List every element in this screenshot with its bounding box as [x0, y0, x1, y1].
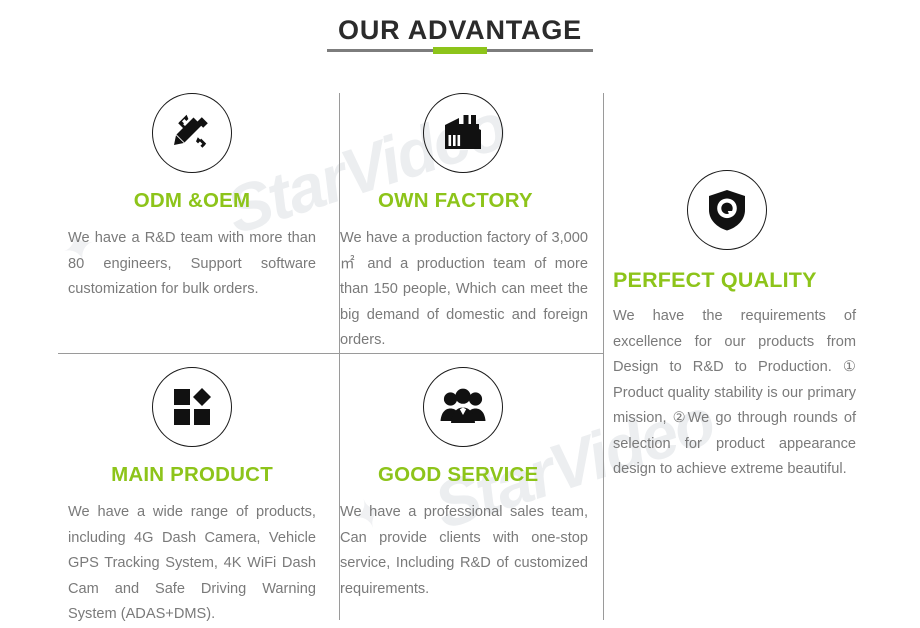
card-description: We have a wide range of products, includ…: [68, 500, 316, 628]
card-title: GOOD SERVICE: [340, 463, 588, 487]
pencil-design-icon: [152, 93, 232, 173]
advantage-card-perfect-quality[interactable]: PERFECT QUALITY We have the requirements…: [613, 170, 856, 483]
page-title: OUR ADVANTAGE: [0, 0, 920, 47]
card-title: PERFECT QUALITY: [613, 268, 856, 292]
advantage-card-main-product[interactable]: MAIN PRODUCT We have a wide range of pro…: [68, 367, 316, 628]
advantage-card-own-factory[interactable]: OWN FACTORY We have a production factory…: [340, 93, 588, 354]
card-description: We have a professional sales team, Can p…: [340, 500, 588, 602]
title-underline-accent: [433, 47, 487, 54]
advantage-card-odm-oem[interactable]: ODM &OEM We have a R&D team with more th…: [68, 93, 316, 303]
product-grid-icon: [152, 367, 232, 447]
card-description: We have a R&D team with more than 80 eng…: [68, 226, 316, 303]
vertical-divider-right: [603, 93, 604, 620]
card-title: ODM &OEM: [68, 189, 316, 213]
factory-icon: [423, 93, 503, 173]
advantage-card-good-service[interactable]: GOOD SERVICE We have a professional sale…: [340, 367, 588, 602]
shield-quality-icon: [687, 170, 767, 250]
card-title: MAIN PRODUCT: [68, 463, 316, 487]
page-header: OUR ADVANTAGE: [0, 0, 920, 47]
card-description: We have the requirements of excellence f…: [613, 304, 856, 483]
team-people-icon: [423, 367, 503, 447]
card-description: We have a production factory of 3,000 ㎡ …: [340, 226, 588, 354]
card-title: OWN FACTORY: [340, 189, 588, 213]
